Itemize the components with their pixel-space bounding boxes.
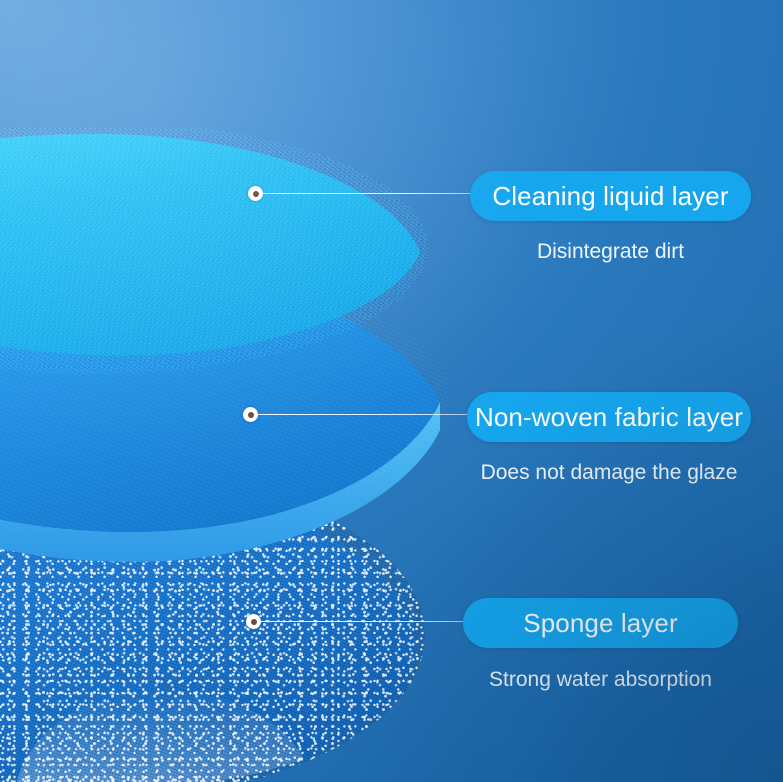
label-pill-cleaning-liquid-layer[interactable]: Cleaning liquid layer	[470, 171, 751, 221]
label-text-non-woven-fabric-layer: Non-woven fabric layer	[475, 402, 743, 433]
caption-text-sponge-layer: Strong water absorption	[489, 668, 712, 691]
cleaning-liquid-layer-shape	[0, 128, 428, 428]
label-text-sponge-layer: Sponge layer	[523, 608, 677, 639]
label-text-cleaning-liquid-layer: Cleaning liquid layer	[492, 181, 728, 212]
connector-dot-cleaning-liquid-layer	[248, 186, 263, 201]
caption-non-woven-fabric-layer: Does not damage the glaze	[467, 461, 751, 485]
connector-line-non-woven-fabric-layer	[257, 414, 475, 416]
caption-sponge-layer: Strong water absorption	[463, 668, 738, 692]
connector-dot-non-woven-fabric-layer	[243, 407, 258, 422]
caption-text-cleaning-liquid-layer: Disintegrate dirt	[537, 240, 684, 263]
label-pill-non-woven-fabric-layer[interactable]: Non-woven fabric layer	[467, 392, 751, 442]
caption-text-non-woven-fabric-layer: Does not damage the glaze	[481, 461, 738, 484]
connector-line-cleaning-liquid-layer	[262, 193, 477, 195]
label-pill-sponge-layer[interactable]: Sponge layer	[463, 598, 738, 648]
connector-dot-sponge-layer	[246, 614, 261, 629]
product-layer-diagram: Cleaning liquid layer Disintegrate dirt …	[0, 0, 783, 782]
connector-line-sponge-layer	[260, 621, 470, 623]
caption-cleaning-liquid-layer: Disintegrate dirt	[470, 240, 751, 264]
